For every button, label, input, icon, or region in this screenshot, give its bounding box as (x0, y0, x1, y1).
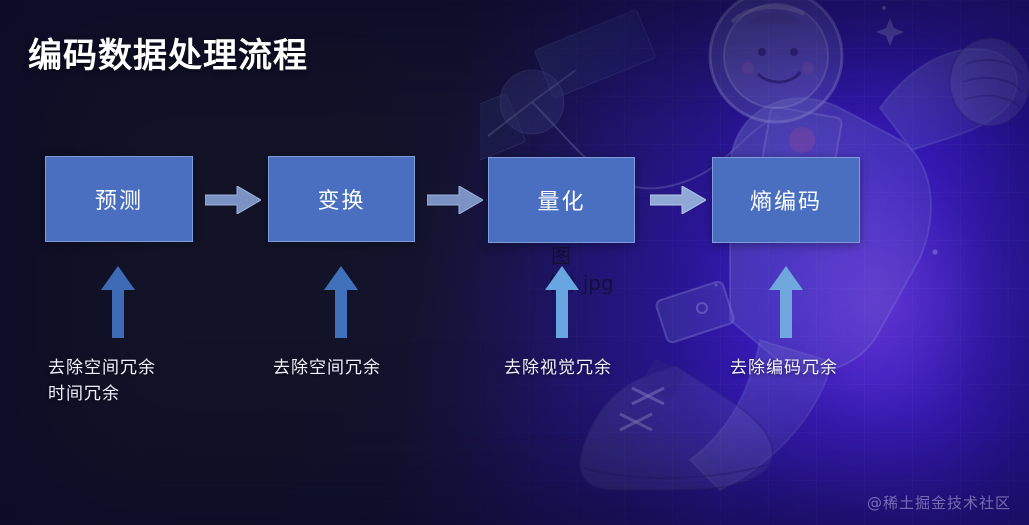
flow-step-caption-quantization: 去除视觉冗余 (504, 355, 612, 381)
flow-step-box-quantization[interactable]: 量化 (488, 157, 635, 243)
flow-step-caption-entropy-coding: 去除编码冗余 (730, 355, 838, 381)
arrow-up-icon-2 (324, 266, 358, 338)
flow-step-label: 预测 (95, 183, 143, 215)
watermark: @稀土掘金技术社区 (867, 492, 1011, 513)
arrow-up-icon-1 (101, 266, 135, 338)
flow-step-label: 变换 (317, 183, 365, 215)
flow-step-box-transform[interactable]: 变换 (268, 156, 415, 242)
page-title: 编码数据处理流程 (28, 28, 308, 77)
arrow-up-icon-3 (545, 266, 579, 338)
flow-step-caption-prediction: 去除空间冗余 时间冗余 (48, 355, 156, 407)
arrow-right-icon-3 (650, 186, 706, 214)
slide-canvas: 图(3).jpg 编码数据处理流程 预测 变换 量化 熵编码 去除空间冗余 时间… (0, 0, 1029, 525)
flow-step-box-prediction[interactable]: 预测 (45, 156, 193, 242)
flow-step-label: 熵编码 (750, 184, 822, 216)
flow-step-label: 量化 (537, 184, 585, 216)
astronaut-hand (950, 38, 1029, 126)
arrow-right-icon-1 (205, 186, 261, 214)
arrow-up-icon-4 (769, 266, 803, 338)
arrow-right-icon-2 (427, 186, 483, 214)
flow-step-box-entropy-coding[interactable]: 熵编码 (712, 157, 860, 243)
flow-step-caption-transform: 去除空间冗余 (273, 355, 381, 381)
